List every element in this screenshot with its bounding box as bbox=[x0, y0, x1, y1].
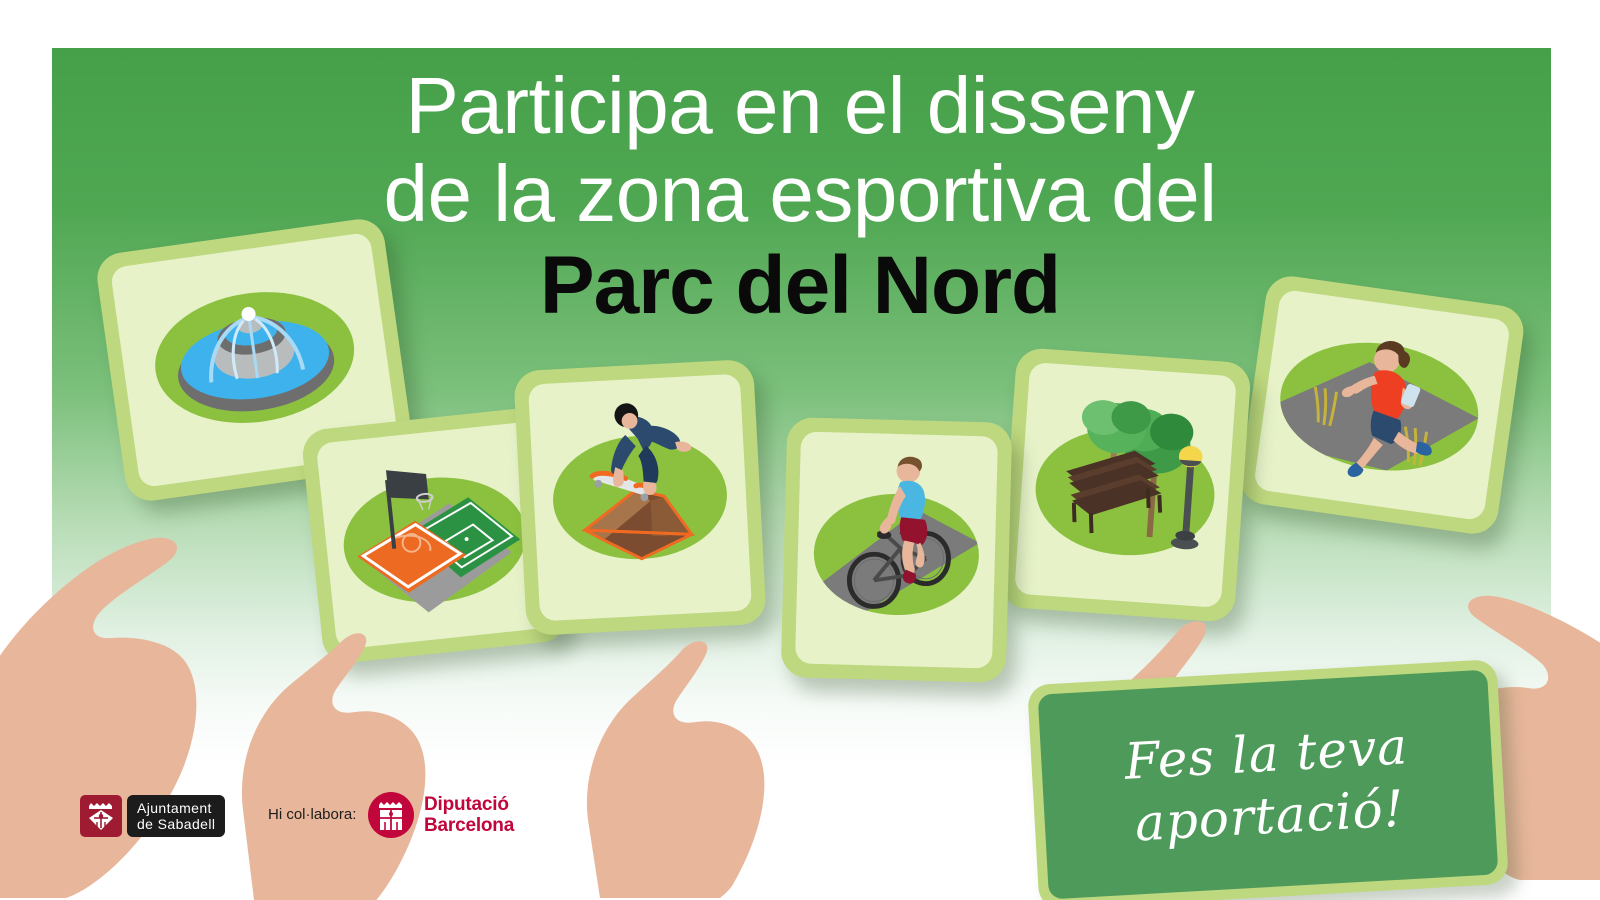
poster-canvas: Participa en el disseny de la zona espor… bbox=[0, 0, 1600, 900]
sabadell-line-2: de Sabadell bbox=[137, 816, 215, 832]
footer-logos: Ajuntament de Sabadell Hi col·labora: Di… bbox=[0, 780, 1600, 870]
sabadell-line-1: Ajuntament bbox=[137, 800, 215, 816]
diputacio-wordmark: Diputació Barcelona bbox=[424, 794, 514, 836]
card-inner bbox=[795, 431, 998, 668]
sabadell-name-plate: Ajuntament de Sabadell bbox=[127, 795, 225, 837]
cyclist-illustration bbox=[795, 431, 998, 668]
collaborate-label: Hi col·labora: bbox=[268, 806, 356, 823]
sabadell-shield-icon bbox=[80, 795, 122, 837]
diputacio-line-2: Barcelona bbox=[424, 815, 514, 836]
diputacio-line-1: Diputació bbox=[424, 794, 514, 815]
diputacio-barcelona-logo[interactable]: Diputació Barcelona bbox=[368, 792, 514, 838]
diputacio-seal-icon bbox=[368, 792, 414, 838]
ajuntament-de-sabadell-logo[interactable]: Ajuntament de Sabadell bbox=[80, 795, 225, 837]
